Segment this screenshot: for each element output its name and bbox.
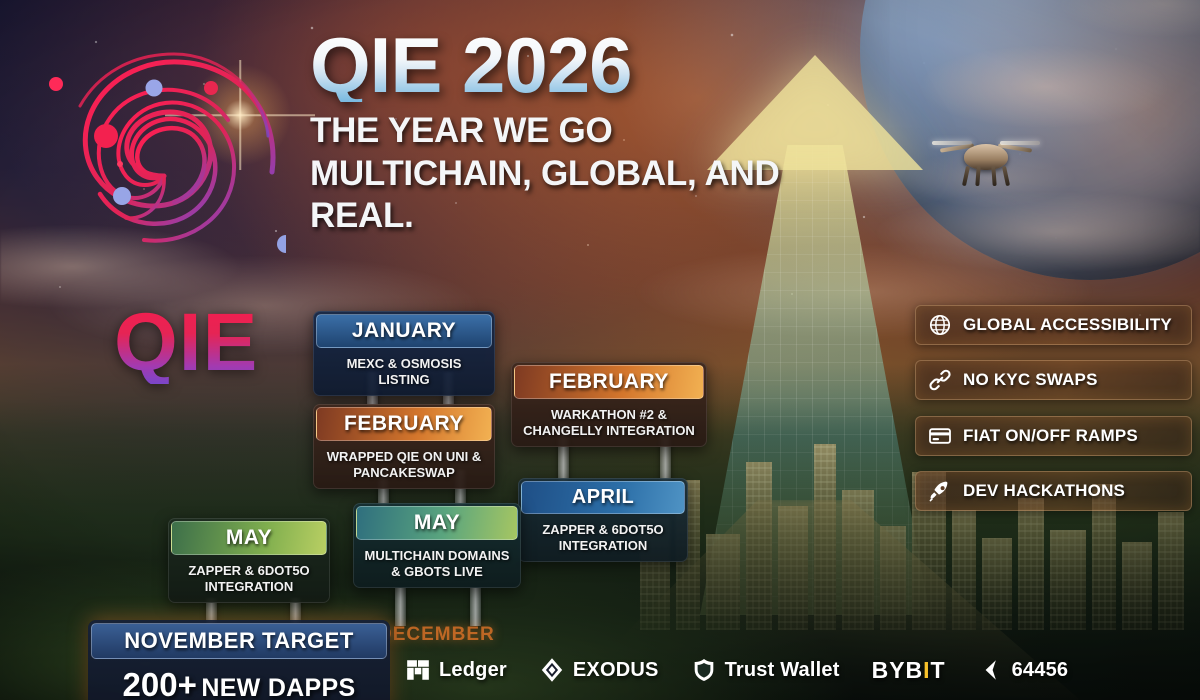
november-target-heading: NOVEMBER TARGET [91,623,387,659]
chevron-left-icon [978,657,1004,683]
rocket-icon [928,479,952,503]
headline-block: QIE 2026 THE YEAR WE GO MULTICHAIN, GLOB… [310,28,830,238]
milestone-card-may-multichain[interactable]: MAY MULTICHAIN DOMAINS & GBOTS LIVE [353,503,521,588]
partner-ledger[interactable]: Ledger [405,657,507,683]
november-target-body: 200+ NEW DAPPS [88,662,390,700]
partners-bar: Ledger EXODUS Trust Wallet BYBIT 644 [405,648,1068,692]
milestone-detail: MULTICHAIN DOMAINS & GBOTS LIVE [353,543,521,588]
milestone-detail: ZAPPER & 6DOT5O INTEGRATION [168,558,330,603]
dapps-label: NEW DAPPS [201,674,355,700]
feature-label: GLOBAL ACCESSIBILITY [963,315,1172,335]
partner-name: EXODUS [573,659,659,682]
milestone-month: MAY [171,521,327,555]
partner-bybit[interactable]: BYBIT [872,657,946,684]
infographic-poster: QIE QIE 2026 THE YEAR WE GO MULTICHAIN, … [0,0,1200,700]
feature-badge-global-accessibility[interactable]: GLOBAL ACCESSIBILITY [915,305,1192,345]
milestone-month: FEBRUARY [316,407,492,441]
feature-badge-dev-hackathons[interactable]: DEV HACKATHONS [915,471,1192,511]
partner-64456[interactable]: 64456 [978,657,1069,683]
sign-post [470,588,481,626]
milestone-card-january[interactable]: JANUARY MEXC & OSMOSIS LISTING [313,311,495,396]
milestone-month: FEBRUARY [514,365,704,399]
november-target-card[interactable]: NOVEMBER TARGET 200+ NEW DAPPS [88,620,390,700]
sign-post [395,588,406,626]
feature-label: DEV HACKATHONS [963,481,1125,501]
milestone-card-february-wrapped[interactable]: FEBRUARY WRAPPED QIE ON UNI & PANCAKESWA… [313,404,495,489]
milestone-detail: MEXC & OSMOSIS LISTING [313,351,495,396]
partner-name: 64456 [1012,659,1069,682]
page-title: QIE 2026 [310,28,830,102]
milestone-card-february-warkathon[interactable]: FEBRUARY WARKATHON #2 & CHANGELLY INTEGR… [511,362,707,447]
milestone-detail: WRAPPED QIE ON UNI & PANCAKESWAP [313,444,495,489]
milestone-detail: ZAPPER & 6DOT5O INTEGRATION [518,517,688,562]
globe-icon [928,313,952,337]
feature-label: FIAT ON/OFF RAMPS [963,426,1138,446]
milestone-card-april[interactable]: APRIL ZAPPER & 6DOT5O INTEGRATION [518,478,688,562]
partner-trust-wallet[interactable]: Trust Wallet [691,657,840,683]
bybit-logo-icon: BYBIT [872,657,946,684]
credit-card-icon [928,424,952,448]
trust-wallet-shield-icon [691,657,717,683]
december-label: DECEMBER [378,624,495,646]
dapps-count: 200+ [123,666,197,700]
qie-logo: QIE [36,26,286,286]
milestone-month: MAY [356,506,518,540]
qie-wordmark: QIE [114,302,258,384]
milestone-month: APRIL [521,481,685,514]
feature-label: NO KYC SWAPS [963,370,1098,390]
milestone-month: JANUARY [316,314,492,348]
quadcopter-drone-icon [938,128,1034,190]
partner-name: Trust Wallet [725,659,840,682]
feature-badge-fiat-ramps[interactable]: FIAT ON/OFF RAMPS [915,416,1192,456]
page-subtitle: THE YEAR WE GO MULTICHAIN, GLOBAL, AND R… [310,110,830,238]
exodus-logo-icon [539,657,565,683]
partner-exodus[interactable]: EXODUS [539,657,659,683]
milestone-detail: WARKATHON #2 & CHANGELLY INTEGRATION [511,402,707,447]
milestone-card-may-zapper[interactable]: MAY ZAPPER & 6DOT5O INTEGRATION [168,518,330,603]
feature-badge-no-kyc-swaps[interactable]: NO KYC SWAPS [915,360,1192,400]
partner-name: Ledger [439,659,507,682]
ledger-logo-icon [405,657,431,683]
qie-spiral-galaxy-logo-icon [36,26,286,286]
link-icon [928,368,952,392]
